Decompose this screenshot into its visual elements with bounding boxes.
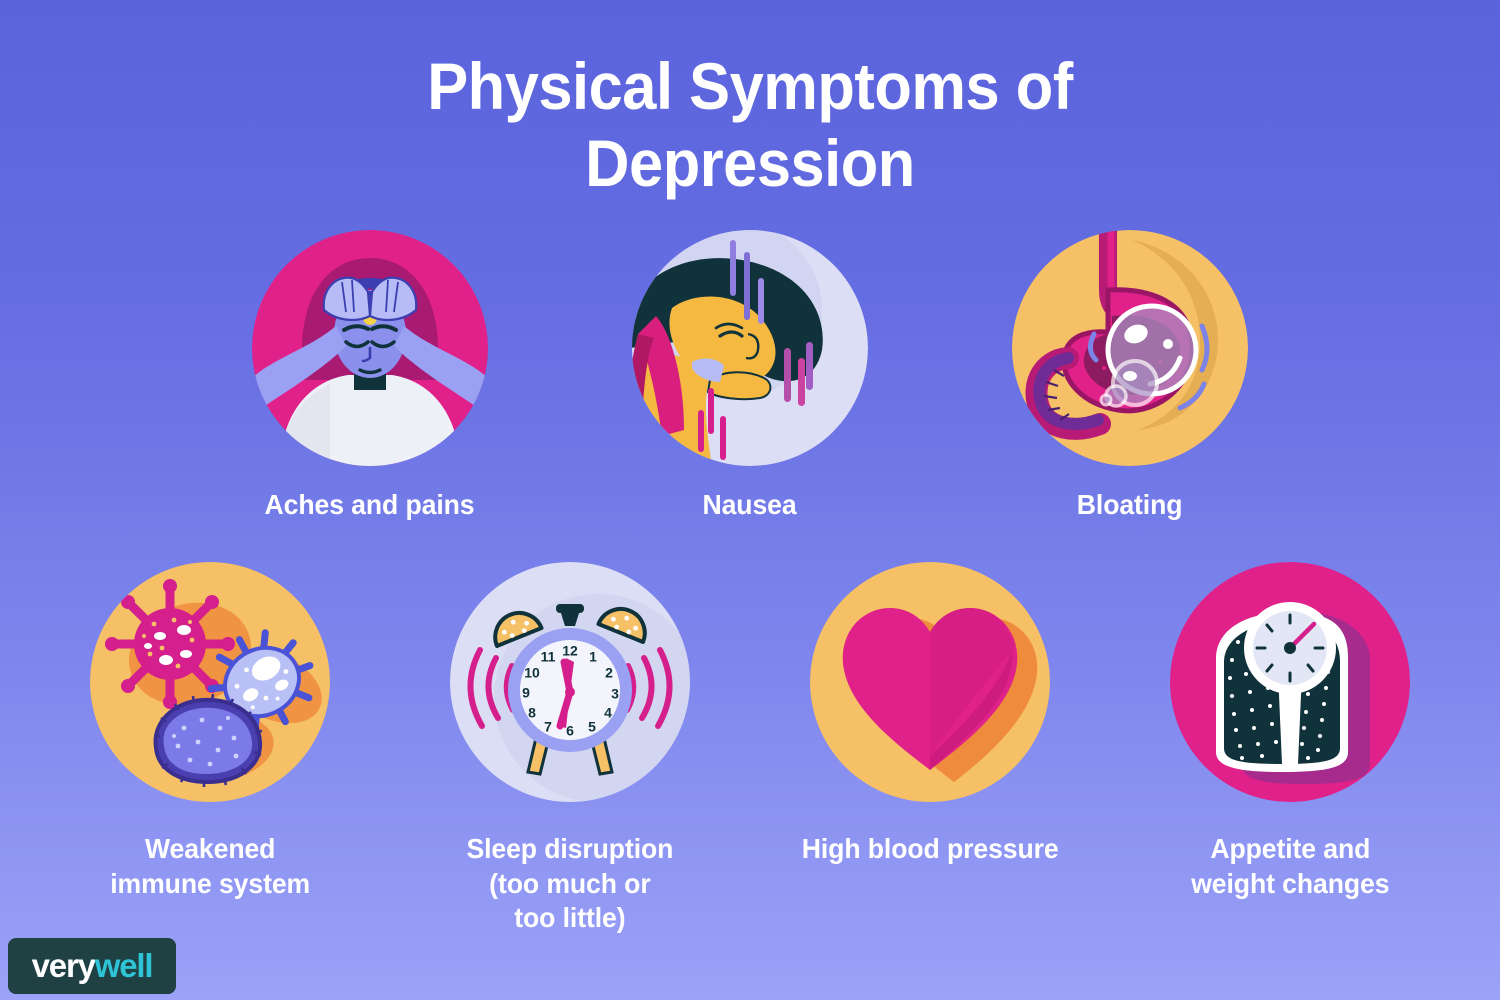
clock-numeral: 2 [605, 665, 613, 681]
symptom-label: High blood pressure [802, 832, 1059, 867]
bathroom-scale-icon [1170, 562, 1410, 802]
symptom-label: Bloating [1077, 488, 1183, 523]
verywell-logo[interactable]: verywell [8, 938, 176, 994]
stomach-bubbles-icon [1012, 230, 1248, 466]
logo-text-very: very [32, 947, 95, 984]
symptom-item-sleep-disruption[interactable]: 12 1 2 3 4 5 6 7 8 9 10 11 [390, 562, 750, 936]
clock-numeral: 6 [566, 723, 574, 739]
symptom-label: Appetite and weight changes [1191, 832, 1389, 901]
clock-numeral: 1 [589, 649, 597, 665]
alarm-clock-icon: 12 1 2 3 4 5 6 7 8 9 10 11 [450, 562, 690, 802]
symptom-label: Aches and pains [265, 488, 475, 523]
logo-text-well: well [95, 947, 153, 984]
clock-numeral: 11 [541, 649, 556, 665]
person-holding-head-icon [252, 230, 488, 466]
symptom-row-1: Aches and pains [0, 230, 1500, 523]
clock-numeral: 12 [562, 643, 578, 659]
symptom-row-2: Weakened immune system [0, 562, 1500, 936]
clock-numeral: 3 [611, 686, 619, 702]
symptom-label: Nausea [703, 488, 797, 523]
clock-numeral: 8 [528, 705, 536, 721]
symptom-item-appetite-and-weight-changes[interactable]: Appetite and weight changes [1110, 562, 1470, 936]
symptom-item-bloating[interactable]: Bloating [940, 230, 1320, 523]
clock-numeral: 9 [522, 685, 530, 701]
symptom-label: Sleep disruption (too much or too little… [467, 832, 674, 936]
heart-icon [810, 562, 1050, 802]
clock-numeral: 10 [524, 665, 540, 681]
symptom-item-weakened-immune-system[interactable]: Weakened immune system [30, 562, 390, 936]
symptom-item-aches-and-pains[interactable]: Aches and pains [180, 230, 560, 523]
clock-numeral: 5 [588, 719, 596, 735]
page-title: Physical Symptoms of Depression [53, 48, 1448, 201]
infographic-canvas: Physical Symptoms of Depression [0, 0, 1500, 1000]
symptom-item-nausea[interactable]: Nausea [560, 230, 940, 523]
germs-icon [90, 562, 330, 802]
symptom-item-high-blood-pressure[interactable]: High blood pressure [750, 562, 1110, 936]
symptom-label: Weakened immune system [110, 832, 310, 901]
person-nauseous-icon [632, 230, 868, 466]
clock-numeral: 7 [544, 719, 552, 735]
clock-numeral: 4 [604, 705, 612, 721]
